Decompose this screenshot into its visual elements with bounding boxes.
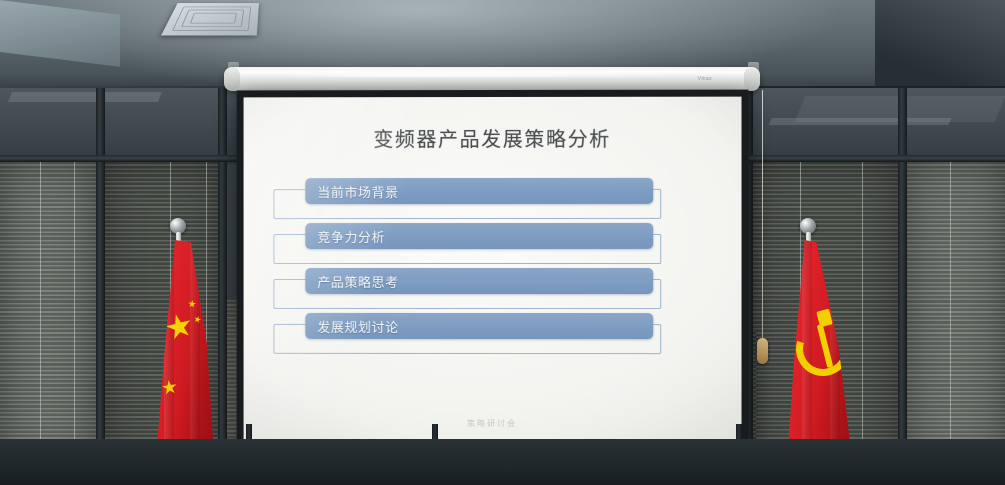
window-mullion — [218, 88, 227, 485]
foreground-low-wall — [0, 439, 1005, 485]
slide-title: 变频器产品发展策略分析 — [244, 123, 742, 153]
glass-reflection — [8, 92, 162, 102]
blind-cord — [950, 162, 951, 482]
agenda-item-bar[interactable]: 发展规划讨论 — [305, 313, 653, 339]
window-mullion — [898, 88, 907, 485]
agenda-item-label: 发展规划讨论 — [317, 316, 398, 335]
roller-highlight — [284, 72, 684, 77]
agenda-item[interactable]: 产品策略思考 — [263, 265, 721, 310]
agenda-item-bar[interactable]: 竞争力分析 — [305, 223, 653, 249]
projection-screen-frame: 变频器产品发展策略分析 当前市场背景 竞争力分析 — [237, 90, 749, 455]
screen-pull-toggle[interactable] — [757, 338, 768, 364]
blind-cord — [40, 162, 41, 482]
agenda-item-bar[interactable]: 当前市场背景 — [305, 178, 653, 204]
ceiling-shadow-right — [875, 0, 1005, 98]
window-mullion — [96, 88, 105, 485]
agenda-item-label: 当前市场背景 — [317, 182, 398, 201]
roller-endcap-left — [224, 67, 240, 91]
agenda-item-label: 竞争力分析 — [317, 227, 385, 246]
agenda-item[interactable]: 当前市场背景 — [263, 175, 721, 220]
agenda-item[interactable]: 竞争力分析 — [263, 220, 721, 265]
roller-brand-logo: Vmax — [698, 76, 712, 82]
air-vent-icon — [161, 3, 259, 35]
agenda-item[interactable]: 发展规划讨论 — [263, 310, 721, 355]
projection-screen-surface: 变频器产品发展策略分析 当前市场背景 竞争力分析 — [244, 97, 742, 448]
meeting-room-photo: Vmax 变频器产品发展策略分析 当前市场背景 — [0, 0, 1005, 485]
presentation-slide: 变频器产品发展策略分析 当前市场背景 竞争力分析 — [244, 97, 742, 448]
roller-endcap-right — [744, 67, 760, 91]
agenda-item-bar[interactable]: 产品策略思考 — [305, 268, 653, 294]
blind-cord — [74, 162, 75, 482]
blind-cord — [862, 162, 863, 482]
screen-pull-cord[interactable] — [762, 90, 763, 340]
agenda-list: 当前市场背景 竞争力分析 产品策略思考 — [263, 175, 721, 355]
projector-screen-roller-casing[interactable]: Vmax — [224, 67, 760, 91]
window-blinds — [906, 160, 1005, 485]
agenda-item-label: 产品策略思考 — [317, 272, 398, 291]
window-blinds — [0, 160, 96, 485]
slide-footer-text: 策略研讨会 — [244, 418, 742, 430]
